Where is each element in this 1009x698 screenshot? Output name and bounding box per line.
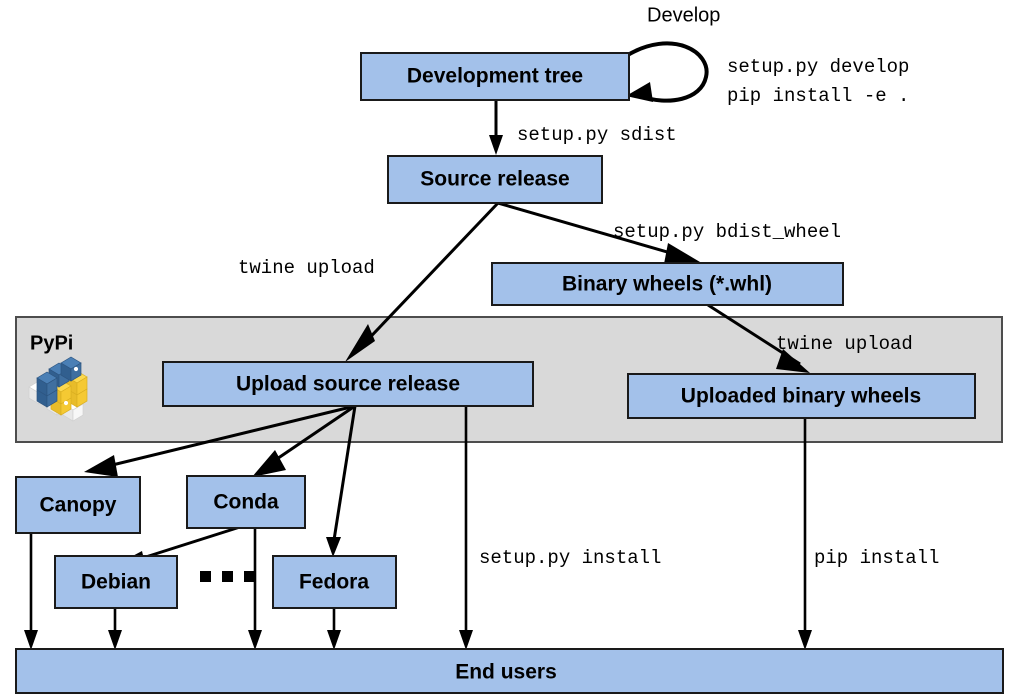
node-canopy-label: Canopy — [39, 494, 116, 517]
edge-label-twine-upload-wheels: twine upload — [776, 333, 913, 355]
node-binary-wheels-label: Binary wheels (*.whl) — [562, 273, 772, 296]
edge-label-setup-install: setup.py install — [479, 547, 661, 569]
python-packaging-flow-diagram: PyPi — [0, 0, 1009, 698]
node-canopy[interactable]: Canopy — [16, 477, 140, 533]
edge-upload-to-conda-arrowhead — [252, 450, 286, 477]
node-end-users-label: End users — [455, 661, 557, 684]
edge-uploaded-to-endusers-arrowhead — [798, 630, 812, 650]
node-debian-label: Debian — [81, 571, 151, 594]
node-development-tree[interactable]: Development tree — [361, 53, 629, 100]
edge-debian-to-endusers-arrowhead — [108, 630, 122, 650]
node-uploaded-binary-wheels-label: Uploaded binary wheels — [681, 385, 921, 408]
node-end-users[interactable]: End users — [16, 649, 1003, 693]
edge-label-twine-upload-source: twine upload — [238, 257, 375, 279]
node-conda[interactable]: Conda — [187, 476, 305, 528]
edge-label-pip-install: pip install — [814, 547, 939, 569]
edge-label-setup-bdist-wheel: setup.py bdist_wheel — [613, 221, 841, 243]
node-fedora[interactable]: Fedora — [273, 556, 396, 608]
edge-devtree-to-source-arrowhead — [489, 135, 503, 155]
edge-develop-selfloop-arrowhead — [626, 82, 653, 102]
node-uploaded-binary-wheels[interactable]: Uploaded binary wheels — [628, 374, 975, 418]
edge-fedora-to-endusers-arrowhead — [327, 630, 341, 650]
edge-label-pip-install-editable: pip install -e . — [727, 85, 909, 107]
node-upload-source-release[interactable]: Upload source release — [163, 362, 533, 406]
node-debian[interactable]: Debian — [55, 556, 177, 608]
node-binary-wheels[interactable]: Binary wheels (*.whl) — [492, 263, 843, 305]
edge-label-setup-develop: setup.py develop — [727, 56, 909, 78]
node-fedora-label: Fedora — [299, 571, 369, 594]
node-development-tree-label: Development tree — [407, 65, 583, 88]
ellipsis-dots — [200, 571, 255, 582]
node-conda-label: Conda — [213, 491, 279, 514]
edge-upload-to-endusers-arrowhead — [459, 630, 473, 650]
edge-source-to-wheels-arrowhead — [664, 243, 700, 264]
edge-conda-to-endusers-arrowhead — [248, 630, 262, 650]
edge-upload-to-canopy-arrowhead — [84, 455, 118, 477]
node-source-release[interactable]: Source release — [388, 156, 602, 203]
edge-upload-to-fedora-arrowhead — [326, 537, 341, 557]
node-source-release-label: Source release — [420, 168, 569, 191]
edge-label-setup-sdist: setup.py sdist — [517, 124, 677, 146]
edge-canopy-to-endusers-arrowhead — [24, 630, 38, 650]
diagram-canvas: PyPi — [0, 0, 1009, 698]
edge-label-develop: Develop — [647, 4, 720, 26]
pypi-group-label: PyPi — [30, 332, 73, 354]
node-upload-source-release-label: Upload source release — [236, 373, 460, 396]
